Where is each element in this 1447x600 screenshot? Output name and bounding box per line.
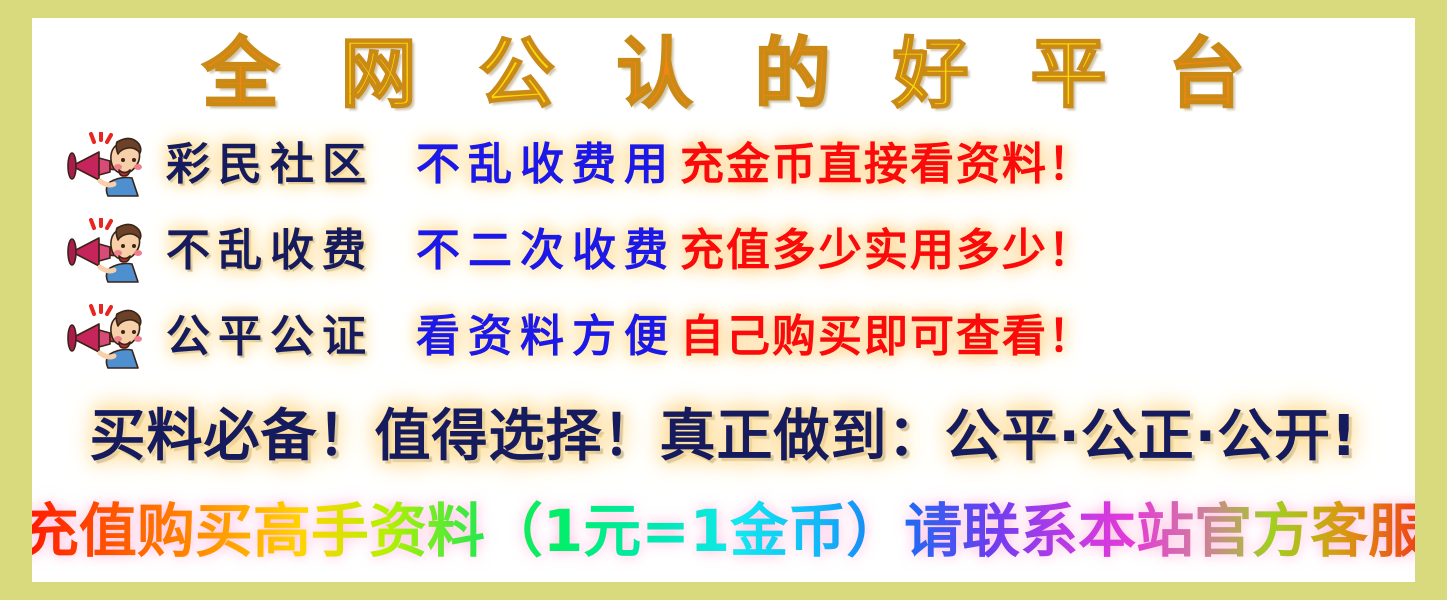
banner-title: 全 网 公 认 的 好 平 台 — [32, 28, 1415, 120]
megaphone-icon — [66, 132, 144, 198]
title-char-8: 台 — [1169, 31, 1245, 117]
title-char-1: 全 — [203, 31, 279, 117]
footer-text: 充值购买高手资料（1元=1金币）请联系本站官方客服 — [32, 489, 1415, 573]
row-3-navy-text: 公平公证 — [166, 304, 374, 370]
title-char-6: 好 — [893, 31, 969, 117]
row-1-blue-text: 不乱收费用 — [416, 132, 676, 198]
row-3-red-text: 自己购买即可查看！ — [680, 304, 1094, 370]
feature-row-2: 不乱收费 不二次收费 充值多少实用多少！ — [32, 214, 1415, 288]
slogan-line: 买料必备！值得选择！真正做到：公平·公正·公开! — [32, 396, 1415, 478]
row-1-red-text: 充金币直接看资料！ — [680, 132, 1094, 198]
row-2-blue-text: 不二次收费 — [416, 218, 676, 284]
promo-banner: 全 网 公 认 的 好 平 台 — [32, 18, 1415, 582]
footer-line: 充值购买高手资料（1元=1金币）请联系本站官方客服 — [32, 488, 1415, 574]
row-2-navy-text: 不乱收费 — [166, 218, 374, 284]
row-2-red-text: 充值多少实用多少！ — [680, 218, 1094, 284]
row-1-navy-text: 彩民社区 — [166, 132, 374, 198]
feature-row-1: 彩民社区 不乱收费用 充金币直接看资料！ — [32, 128, 1415, 202]
title-char-3: 公 — [479, 31, 555, 117]
title-char-2: 网 — [341, 31, 417, 117]
feature-row-3: 公平公证 看资料方便 自己购买即可查看！ — [32, 300, 1415, 374]
title-char-5: 的 — [755, 31, 831, 117]
slogan-text: 买料必备！值得选择！真正做到：公平·公正·公开! — [89, 397, 1357, 477]
title-char-7: 平 — [1031, 31, 1107, 117]
title-char-4: 认 — [617, 31, 693, 117]
megaphone-icon — [66, 218, 144, 284]
row-3-blue-text: 看资料方便 — [416, 304, 676, 370]
megaphone-icon — [66, 304, 144, 370]
